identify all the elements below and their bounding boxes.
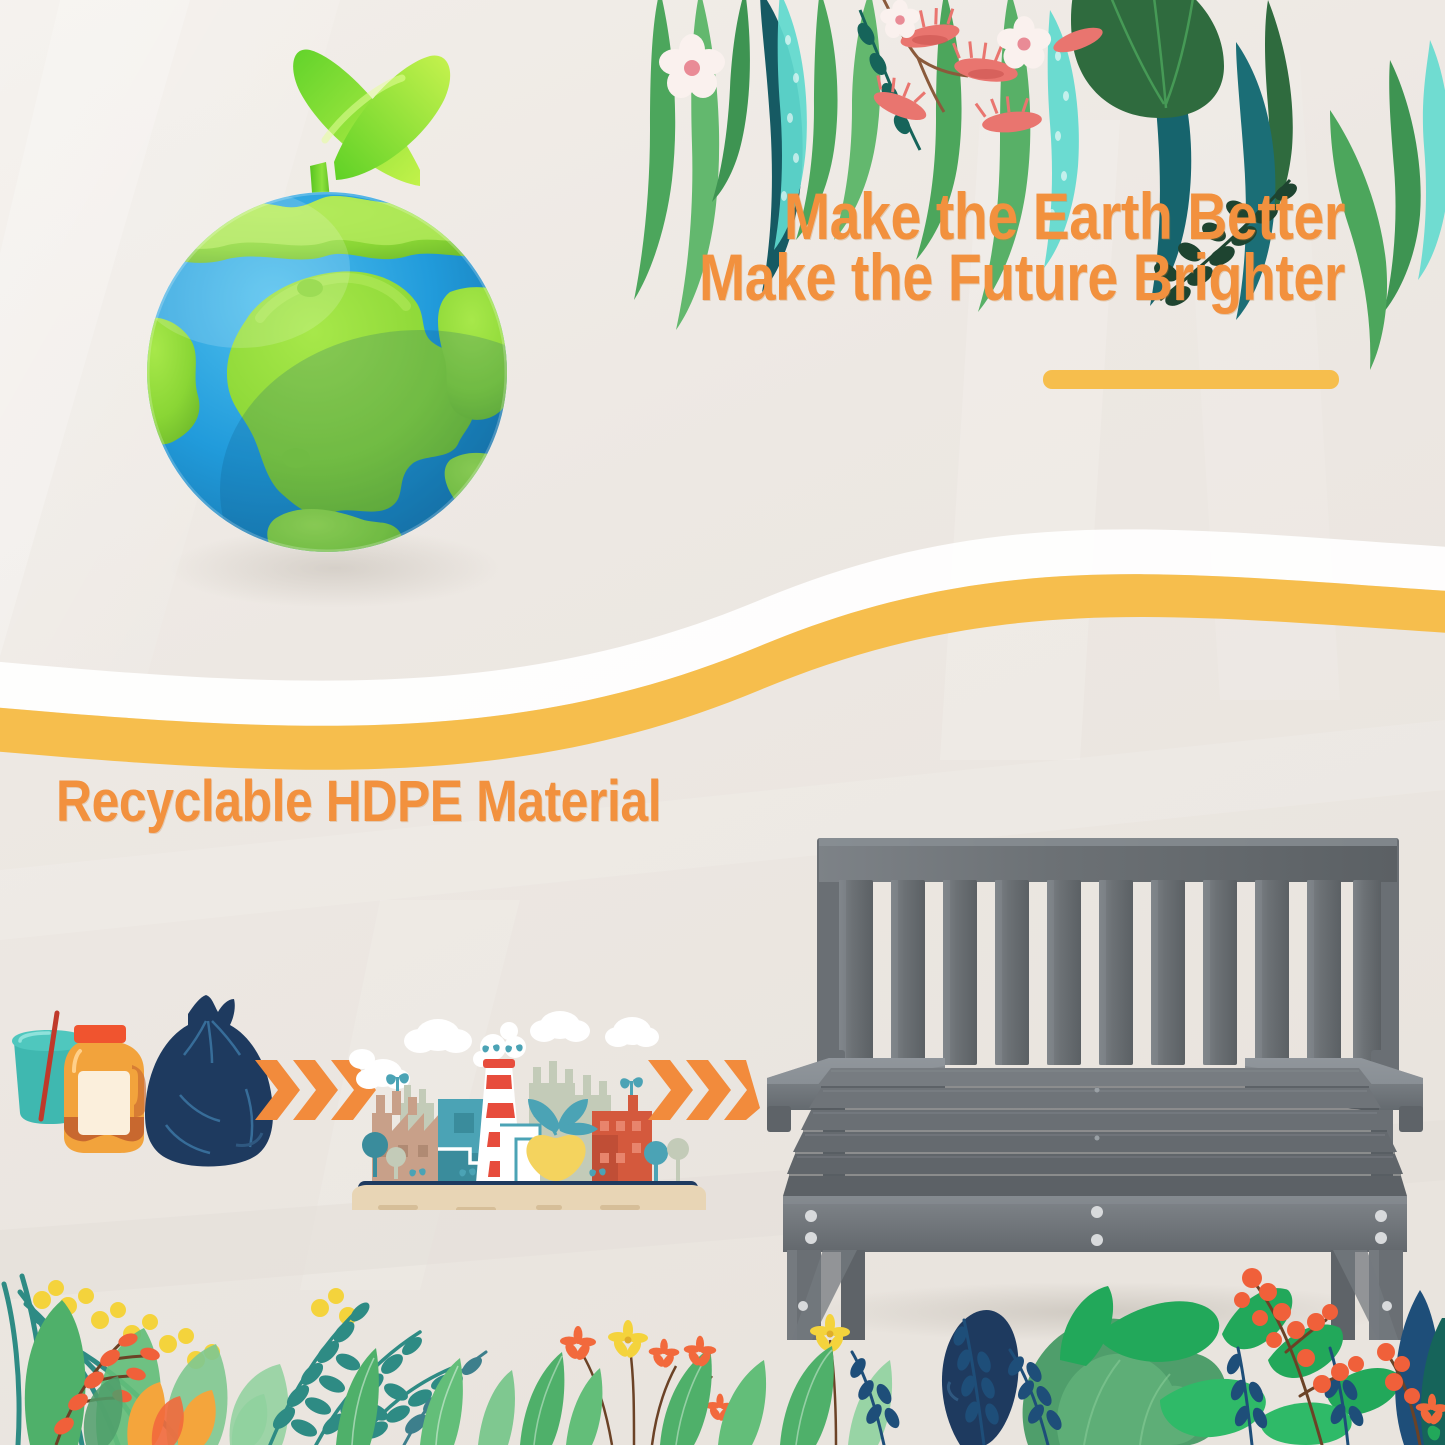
headline-line-1: Make the Earth Better: [686, 186, 1345, 247]
headline-block: Make the Earth Better Make the Future Br…: [560, 186, 1345, 307]
headline-underline-bar: [1043, 370, 1339, 389]
eco-infographic-page: Make the Earth Better Make the Future Br…: [0, 0, 1445, 1445]
headline-line-2: Make the Future Brighter: [686, 247, 1345, 308]
subheading-text: Recyclable HDPE Material: [56, 768, 661, 835]
subheading-block: Recyclable HDPE Material: [56, 768, 760, 835]
